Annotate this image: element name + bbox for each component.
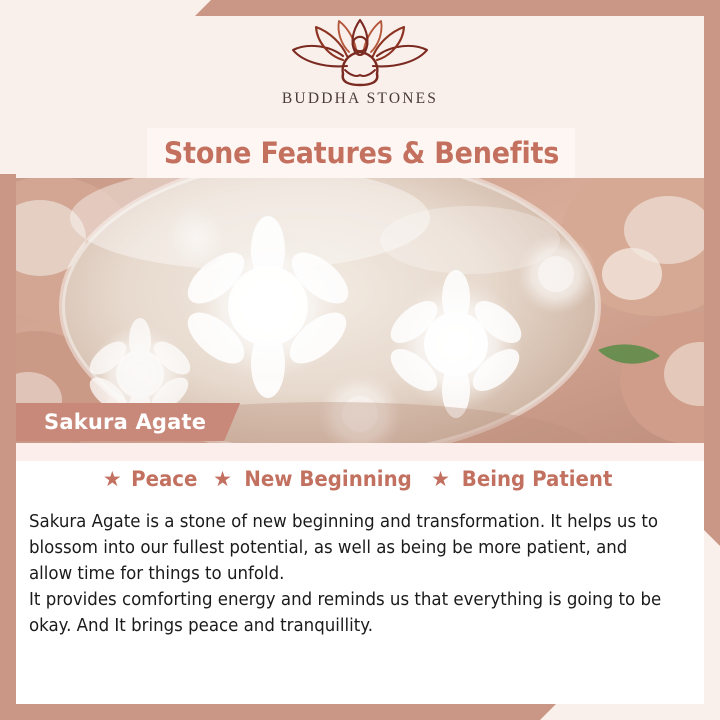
description-paragraph-1: Sakura Agate is a stone of new beginning… — [29, 509, 668, 587]
star-icon: ★ — [213, 469, 232, 490]
frame-top-bar — [195, 0, 720, 16]
description-paragraph-2: It provides comforting energy and remind… — [29, 587, 668, 639]
infographic-page: BUDDHA STONES — [0, 0, 720, 720]
page-title: Stone Features & Benefits — [163, 136, 558, 170]
benefit-item: ★ New Beginning — [213, 467, 417, 491]
accent-strip — [16, 443, 704, 461]
frame-right-bar — [704, 0, 720, 546]
star-icon: ★ — [431, 469, 450, 490]
frame-left-bar — [0, 174, 16, 706]
benefit-item: ★ Being Patient — [431, 467, 617, 491]
lotus-meditation-icon — [285, 16, 435, 88]
benefit-label: Peace — [131, 467, 197, 491]
stone-name-badge: Sakura Agate — [16, 403, 240, 441]
benefit-item: ★ Peace — [103, 467, 199, 491]
benefit-label: Being Patient — [462, 467, 613, 491]
brand-logo: BUDDHA STONES — [0, 16, 720, 108]
description-text: Sakura Agate is a stone of new beginning… — [29, 509, 668, 640]
benefits-row: ★ Peace ★ New Beginning ★ Being Patient — [16, 467, 704, 491]
frame-bottom-bar — [0, 704, 556, 720]
brand-name: BUDDHA STONES — [282, 90, 438, 108]
title-banner: Stone Features & Benefits — [147, 128, 575, 178]
stone-name-label: Sakura Agate — [44, 410, 206, 434]
description-panel: ★ Peace ★ New Beginning ★ Being Patient … — [16, 443, 704, 704]
benefit-label: New Beginning — [244, 467, 411, 491]
star-icon: ★ — [103, 469, 122, 490]
